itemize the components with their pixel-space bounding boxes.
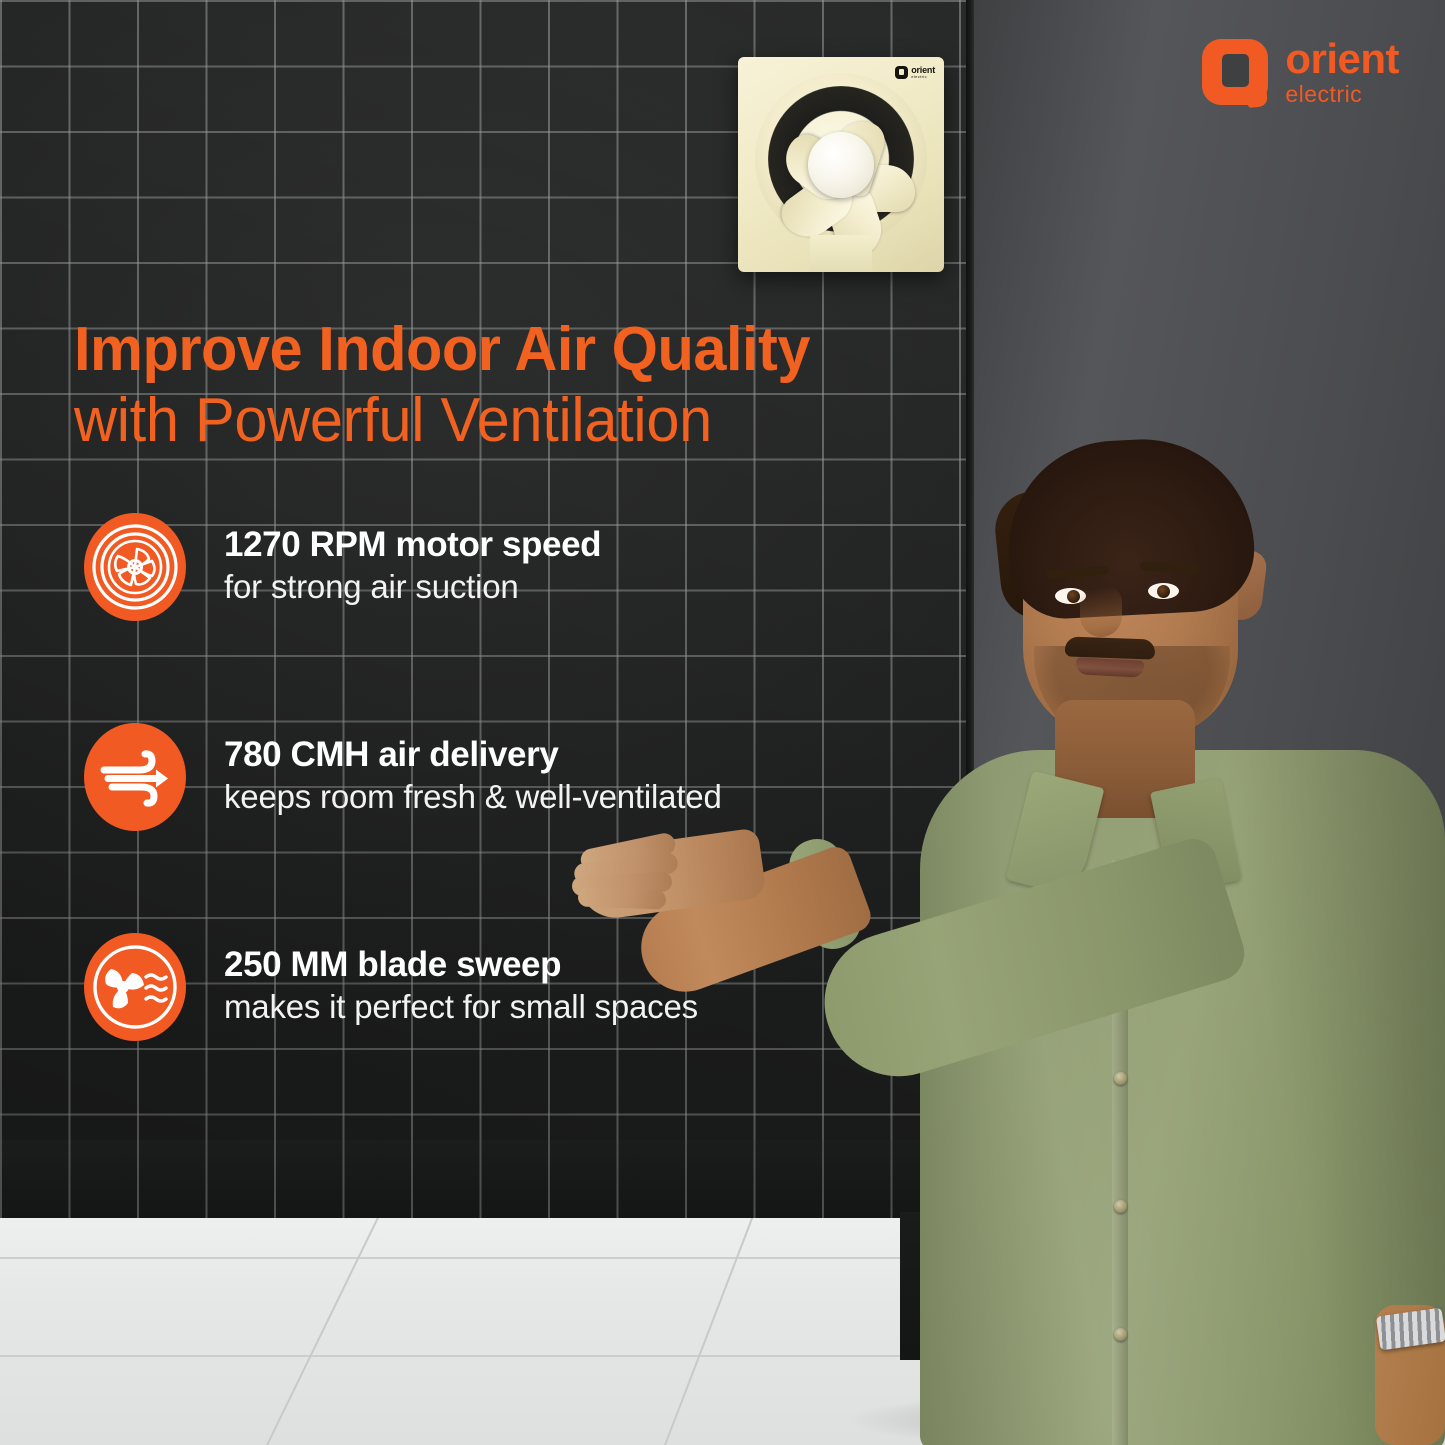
eye-right [1148,583,1179,599]
airflow-wind-arrow-icon [84,723,186,831]
product-exhaust-fan: orient electric [738,57,944,272]
shirt-button [1114,1072,1127,1085]
fan-mount-foot [810,235,872,272]
thumb [578,887,667,909]
headline-line-1: Improve Indoor Air Quality [74,318,919,382]
ad-creative: orient electric orient electric Improve … [0,0,1445,1445]
brand-ambassador [520,400,1445,1445]
product-logo-sub: electric [911,75,935,79]
orient-q-logo-icon [895,66,908,79]
shirt-button [1114,1328,1127,1341]
brand-logo: orient electric [1202,38,1399,106]
fan-blade-airwave-icon [84,933,186,1041]
product-brand-logo: orient electric [895,66,935,79]
brand-sub: electric [1285,83,1399,106]
turbine-impeller-icon [84,513,186,621]
hair [1004,434,1258,622]
shirt-button [1114,1200,1127,1213]
nose [1080,585,1122,637]
brand-name: orient [1285,38,1399,80]
orient-q-logo-icon [1202,39,1268,105]
fan-hub [808,132,874,198]
